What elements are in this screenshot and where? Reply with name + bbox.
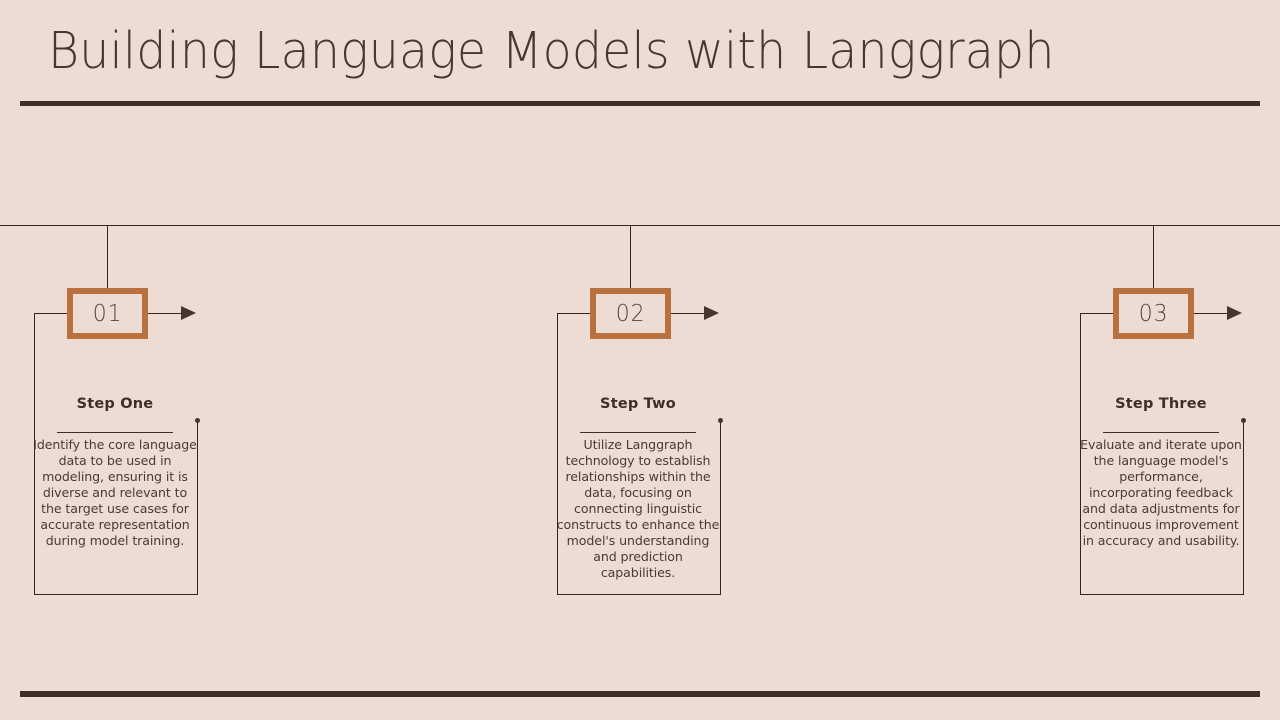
connector-dot-03 <box>1241 418 1246 423</box>
connector-right-spine-03 <box>1243 421 1244 594</box>
connector-left-stub-03 <box>1080 313 1113 314</box>
arrow-right-icon <box>704 306 719 320</box>
step-body-02: Utilize Langgraph technology to establis… <box>556 437 720 581</box>
step-heading-02: Step Two <box>556 396 720 412</box>
arrow-right-icon <box>1227 306 1242 320</box>
step-heading-divider-02 <box>580 432 696 433</box>
connector-left-stub-02 <box>557 313 590 314</box>
step-heading-divider-03 <box>1103 432 1219 433</box>
connector-right-spine-02 <box>720 421 721 594</box>
step-arrow-line-02 <box>671 313 707 314</box>
connector-drop-line-02 <box>630 226 631 288</box>
step-heading-03: Step Three <box>1079 396 1243 412</box>
step-number-box-03[interactable]: 03 <box>1113 288 1194 339</box>
connector-bottom-line-02 <box>557 594 721 595</box>
connector-dot-02 <box>718 418 723 423</box>
connector-drop-line-03 <box>1153 226 1154 288</box>
connector-bottom-line-03 <box>1080 594 1244 595</box>
step-number-label: 02 <box>616 301 646 327</box>
step-group-03: 03 Step Three Evaluate and iterate upon … <box>0 0 260 720</box>
step-number-box-02[interactable]: 02 <box>590 288 671 339</box>
step-body-03: Evaluate and iterate upon the language m… <box>1079 437 1243 549</box>
step-number-label: 03 <box>1139 301 1169 327</box>
step-arrow-line-03 <box>1194 313 1230 314</box>
footer-divider-rule <box>20 691 1260 697</box>
